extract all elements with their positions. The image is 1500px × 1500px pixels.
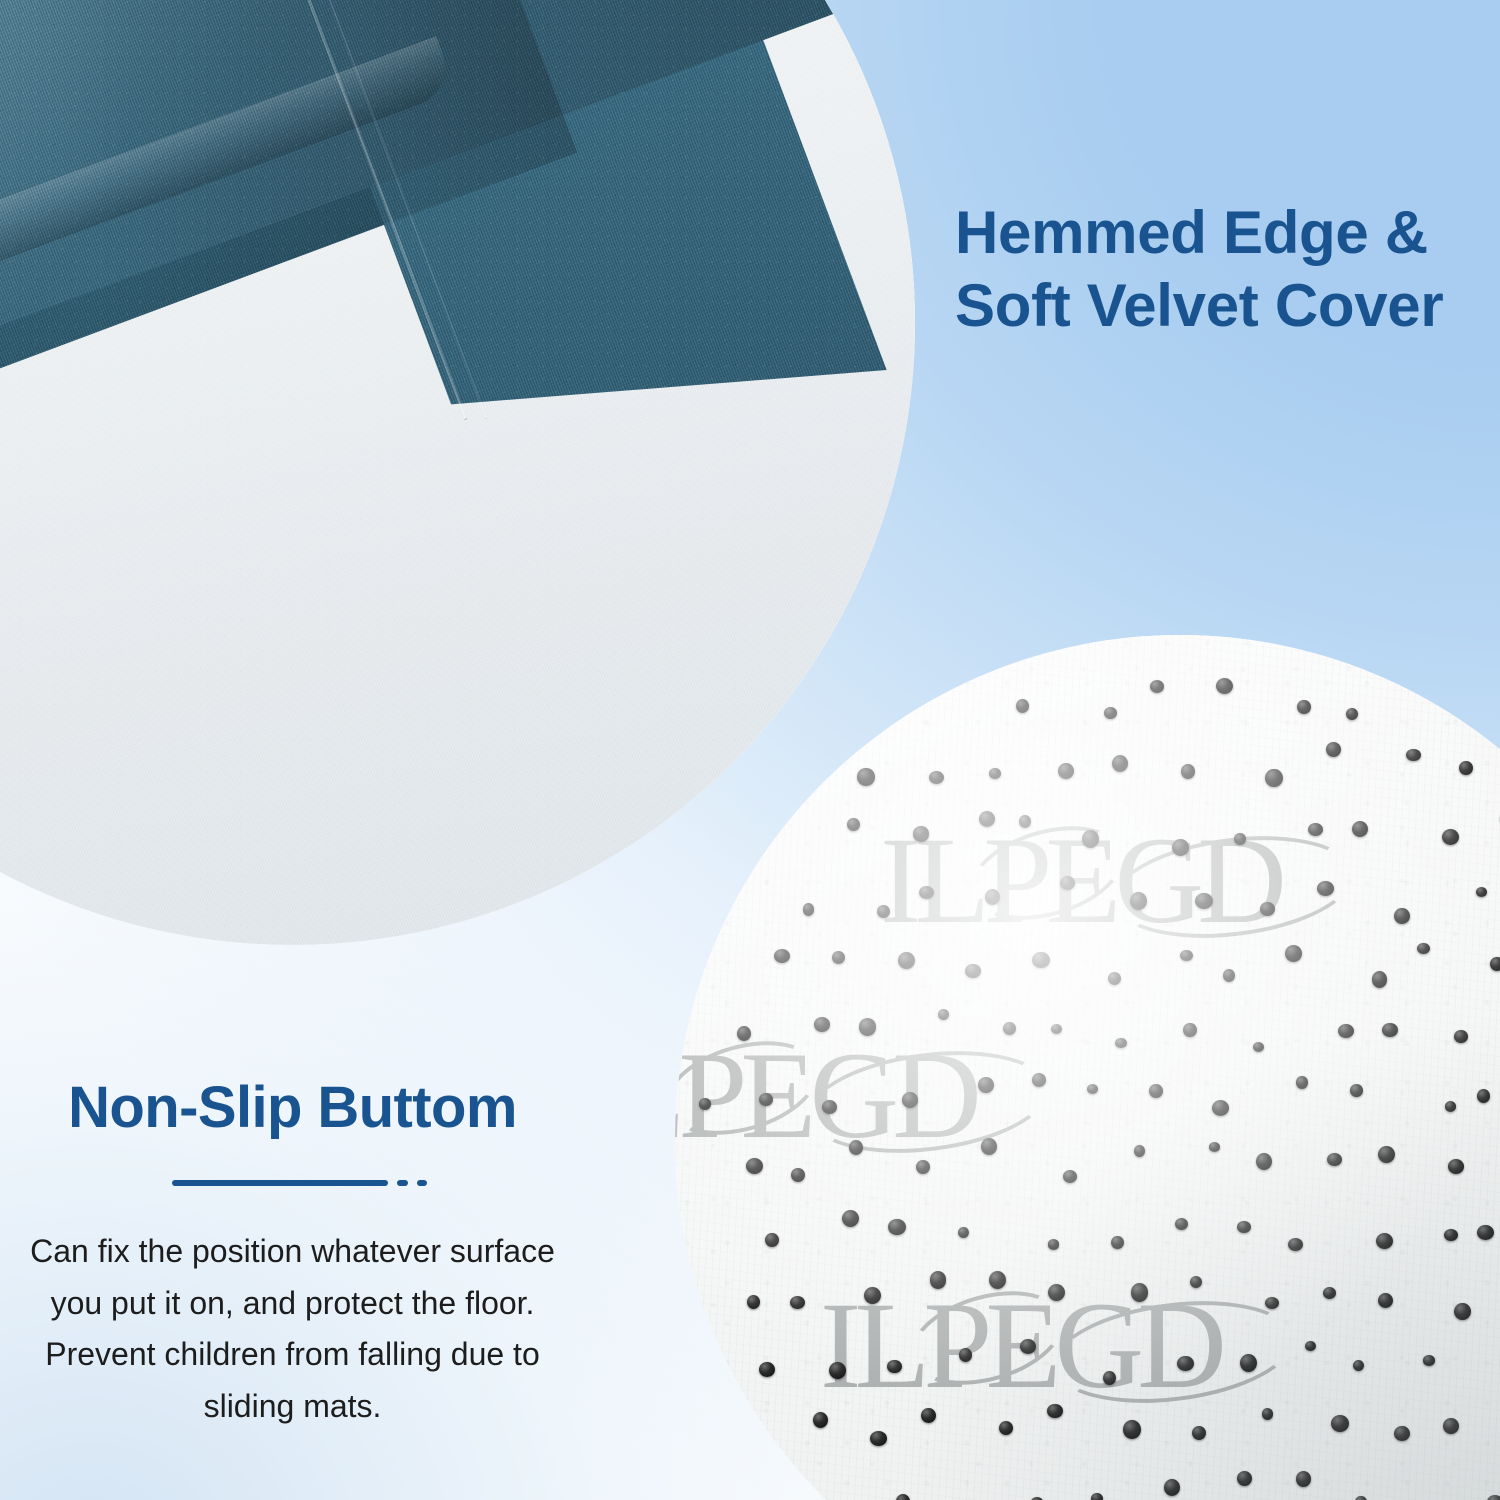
divider-dash (397, 1180, 408, 1186)
non-slip-mat-panel: ILPEGD ILPEGD ILPEGD (675, 635, 1500, 1500)
heading-line-2: Soft Velvet Cover (955, 269, 1485, 342)
divider-dash (417, 1180, 427, 1186)
heading-line-1: Hemmed Edge & (955, 196, 1485, 269)
feature-body-line: Can fix the position whatever surface (18, 1226, 567, 1278)
feature-body-line: sliding mats. (18, 1381, 567, 1433)
feature-divider (0, 1180, 585, 1186)
heading-block: Hemmed Edge & Soft Velvet Cover (955, 196, 1485, 342)
mat-shading-overlay (675, 635, 1500, 1500)
feature-body-line: Prevent children from falling due to (18, 1329, 567, 1381)
feature-body-line: you put it on, and protect the floor. (18, 1278, 567, 1330)
feature-title: Non-Slip Buttom (0, 1076, 585, 1140)
product-feature-graphic: ILPEGD ILPEGD ILPEGD Hemmed Edge & Soft … (0, 0, 1500, 1500)
feature-block: Non-Slip Buttom Can fix the position wha… (0, 1076, 585, 1433)
divider-line (172, 1180, 388, 1186)
feature-description: Can fix the position whatever surface yo… (0, 1226, 585, 1433)
non-slip-mat-photo: ILPEGD ILPEGD ILPEGD (675, 635, 1500, 1500)
